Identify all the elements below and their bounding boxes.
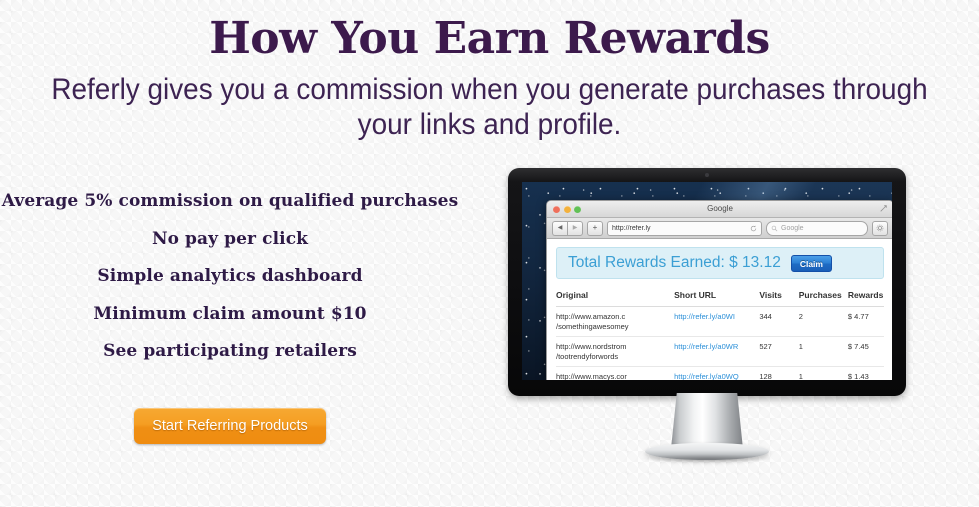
- monitor-stand-neck: [671, 393, 743, 449]
- window-controls[interactable]: [553, 206, 581, 213]
- forward-icon[interactable]: ▶: [567, 221, 583, 236]
- cell-purchases: 1: [799, 337, 848, 367]
- links-table: Original Short URL Visits Purchases Rewa…: [556, 290, 884, 380]
- url-text: http://refer.ly: [612, 225, 750, 232]
- search-placeholder: Google: [781, 225, 804, 232]
- benefit-item: No pay per click: [0, 221, 460, 259]
- benefit-item: Simple analytics dashboard: [0, 258, 460, 296]
- column-header-purchases: Purchases: [799, 290, 848, 307]
- expand-icon[interactable]: [880, 205, 887, 212]
- reload-icon[interactable]: [750, 225, 757, 232]
- monitor-bezel: Google ◀ ▶ + http://refer.ly: [508, 168, 906, 396]
- cell-rewards: $ 7.45: [848, 337, 884, 367]
- table-row: http://www.macys.cor http://refer.ly/a0W…: [556, 367, 884, 381]
- start-referring-products-button[interactable]: Start Referring Products: [134, 408, 326, 444]
- cell-original: http://www.nordstrom /tootrendyforwords: [556, 337, 674, 367]
- monitor-screen: Google ◀ ▶ + http://refer.ly: [522, 182, 892, 380]
- hero-header: How You Earn Rewards Referly gives you a…: [0, 14, 979, 142]
- column-header-original: Original: [556, 290, 674, 307]
- cell-short-url: http://refer.ly/a0WR: [674, 337, 759, 367]
- column-header-rewards: Rewards: [848, 290, 884, 307]
- benefit-item: See participating retailers: [0, 333, 460, 371]
- minimize-icon[interactable]: [564, 206, 571, 213]
- benefits-list: Average 5% commission on qualified purch…: [0, 183, 460, 371]
- dashboard-page: Total Rewards Earned: $ 13.12 Claim Orig…: [547, 239, 892, 380]
- benefit-item: Minimum claim amount $10: [0, 296, 460, 334]
- short-url-link[interactable]: http://refer.ly/a0WR: [674, 342, 738, 351]
- gear-icon: [876, 224, 884, 232]
- cell-original: http://www.macys.cor: [556, 367, 674, 381]
- original-url-line1: http://www.nordstrom: [556, 342, 628, 351]
- table-header-row: Original Short URL Visits Purchases Rewa…: [556, 290, 884, 307]
- column-header-visits: Visits: [759, 290, 798, 307]
- browser-window: Google ◀ ▶ + http://refer.ly: [546, 200, 892, 380]
- webcam-icon: [705, 173, 709, 177]
- cell-visits: 344: [759, 307, 798, 337]
- table-row: http://www.amazon.c /somethingawesomey h…: [556, 307, 884, 337]
- cell-rewards: $ 4.77: [848, 307, 884, 337]
- search-icon: [771, 225, 778, 232]
- cell-rewards: $ 1.43: [848, 367, 884, 381]
- original-url-line2: /somethingawesomey: [556, 322, 674, 332]
- total-rewards-text: Total Rewards Earned: $ 13.12: [568, 254, 781, 272]
- back-icon[interactable]: ◀: [552, 221, 567, 236]
- column-header-short-url: Short URL: [674, 290, 759, 307]
- browser-titlebar: Google: [547, 201, 892, 218]
- benefit-item: Average 5% commission on qualified purch…: [0, 183, 460, 221]
- cell-purchases: 2: [799, 307, 848, 337]
- table-row: http://www.nordstrom /tootrendyforwords …: [556, 337, 884, 367]
- original-url-line1: http://www.amazon.c: [556, 312, 627, 321]
- claim-button[interactable]: Claim: [791, 255, 832, 272]
- close-icon[interactable]: [553, 206, 560, 213]
- cell-short-url: http://refer.ly/a0WI: [674, 307, 759, 337]
- monitor-mockup: Google ◀ ▶ + http://refer.ly: [508, 168, 906, 396]
- page-title: How You Earn Rewards: [0, 14, 979, 64]
- cell-visits: 128: [759, 367, 798, 381]
- nav-button-group: ◀ ▶: [552, 221, 583, 236]
- new-tab-icon[interactable]: +: [587, 221, 603, 236]
- search-input[interactable]: Google: [766, 221, 868, 236]
- original-url-line2: /tootrendyforwords: [556, 352, 674, 362]
- cell-purchases: 1: [799, 367, 848, 381]
- browser-toolbar: ◀ ▶ + http://refer.ly: [547, 218, 892, 239]
- browser-window-title: Google: [547, 201, 892, 217]
- cta-container: Start Referring Products: [0, 408, 460, 444]
- monitor-stand-shadow: [641, 454, 773, 463]
- page-subtitle: Referly gives you a commission when you …: [34, 72, 944, 142]
- maximize-icon[interactable]: [574, 206, 581, 213]
- short-url-link[interactable]: http://refer.ly/a0WQ: [674, 372, 739, 380]
- original-url-line1: http://www.macys.cor: [556, 372, 629, 380]
- short-url-link[interactable]: http://refer.ly/a0WI: [674, 312, 735, 321]
- total-rewards-banner: Total Rewards Earned: $ 13.12 Claim: [556, 247, 884, 279]
- cell-visits: 527: [759, 337, 798, 367]
- cell-original: http://www.amazon.c /somethingawesomey: [556, 307, 674, 337]
- settings-button[interactable]: [872, 221, 888, 236]
- cell-short-url: http://refer.ly/a0WQ: [674, 367, 759, 381]
- url-input[interactable]: http://refer.ly: [607, 221, 762, 236]
